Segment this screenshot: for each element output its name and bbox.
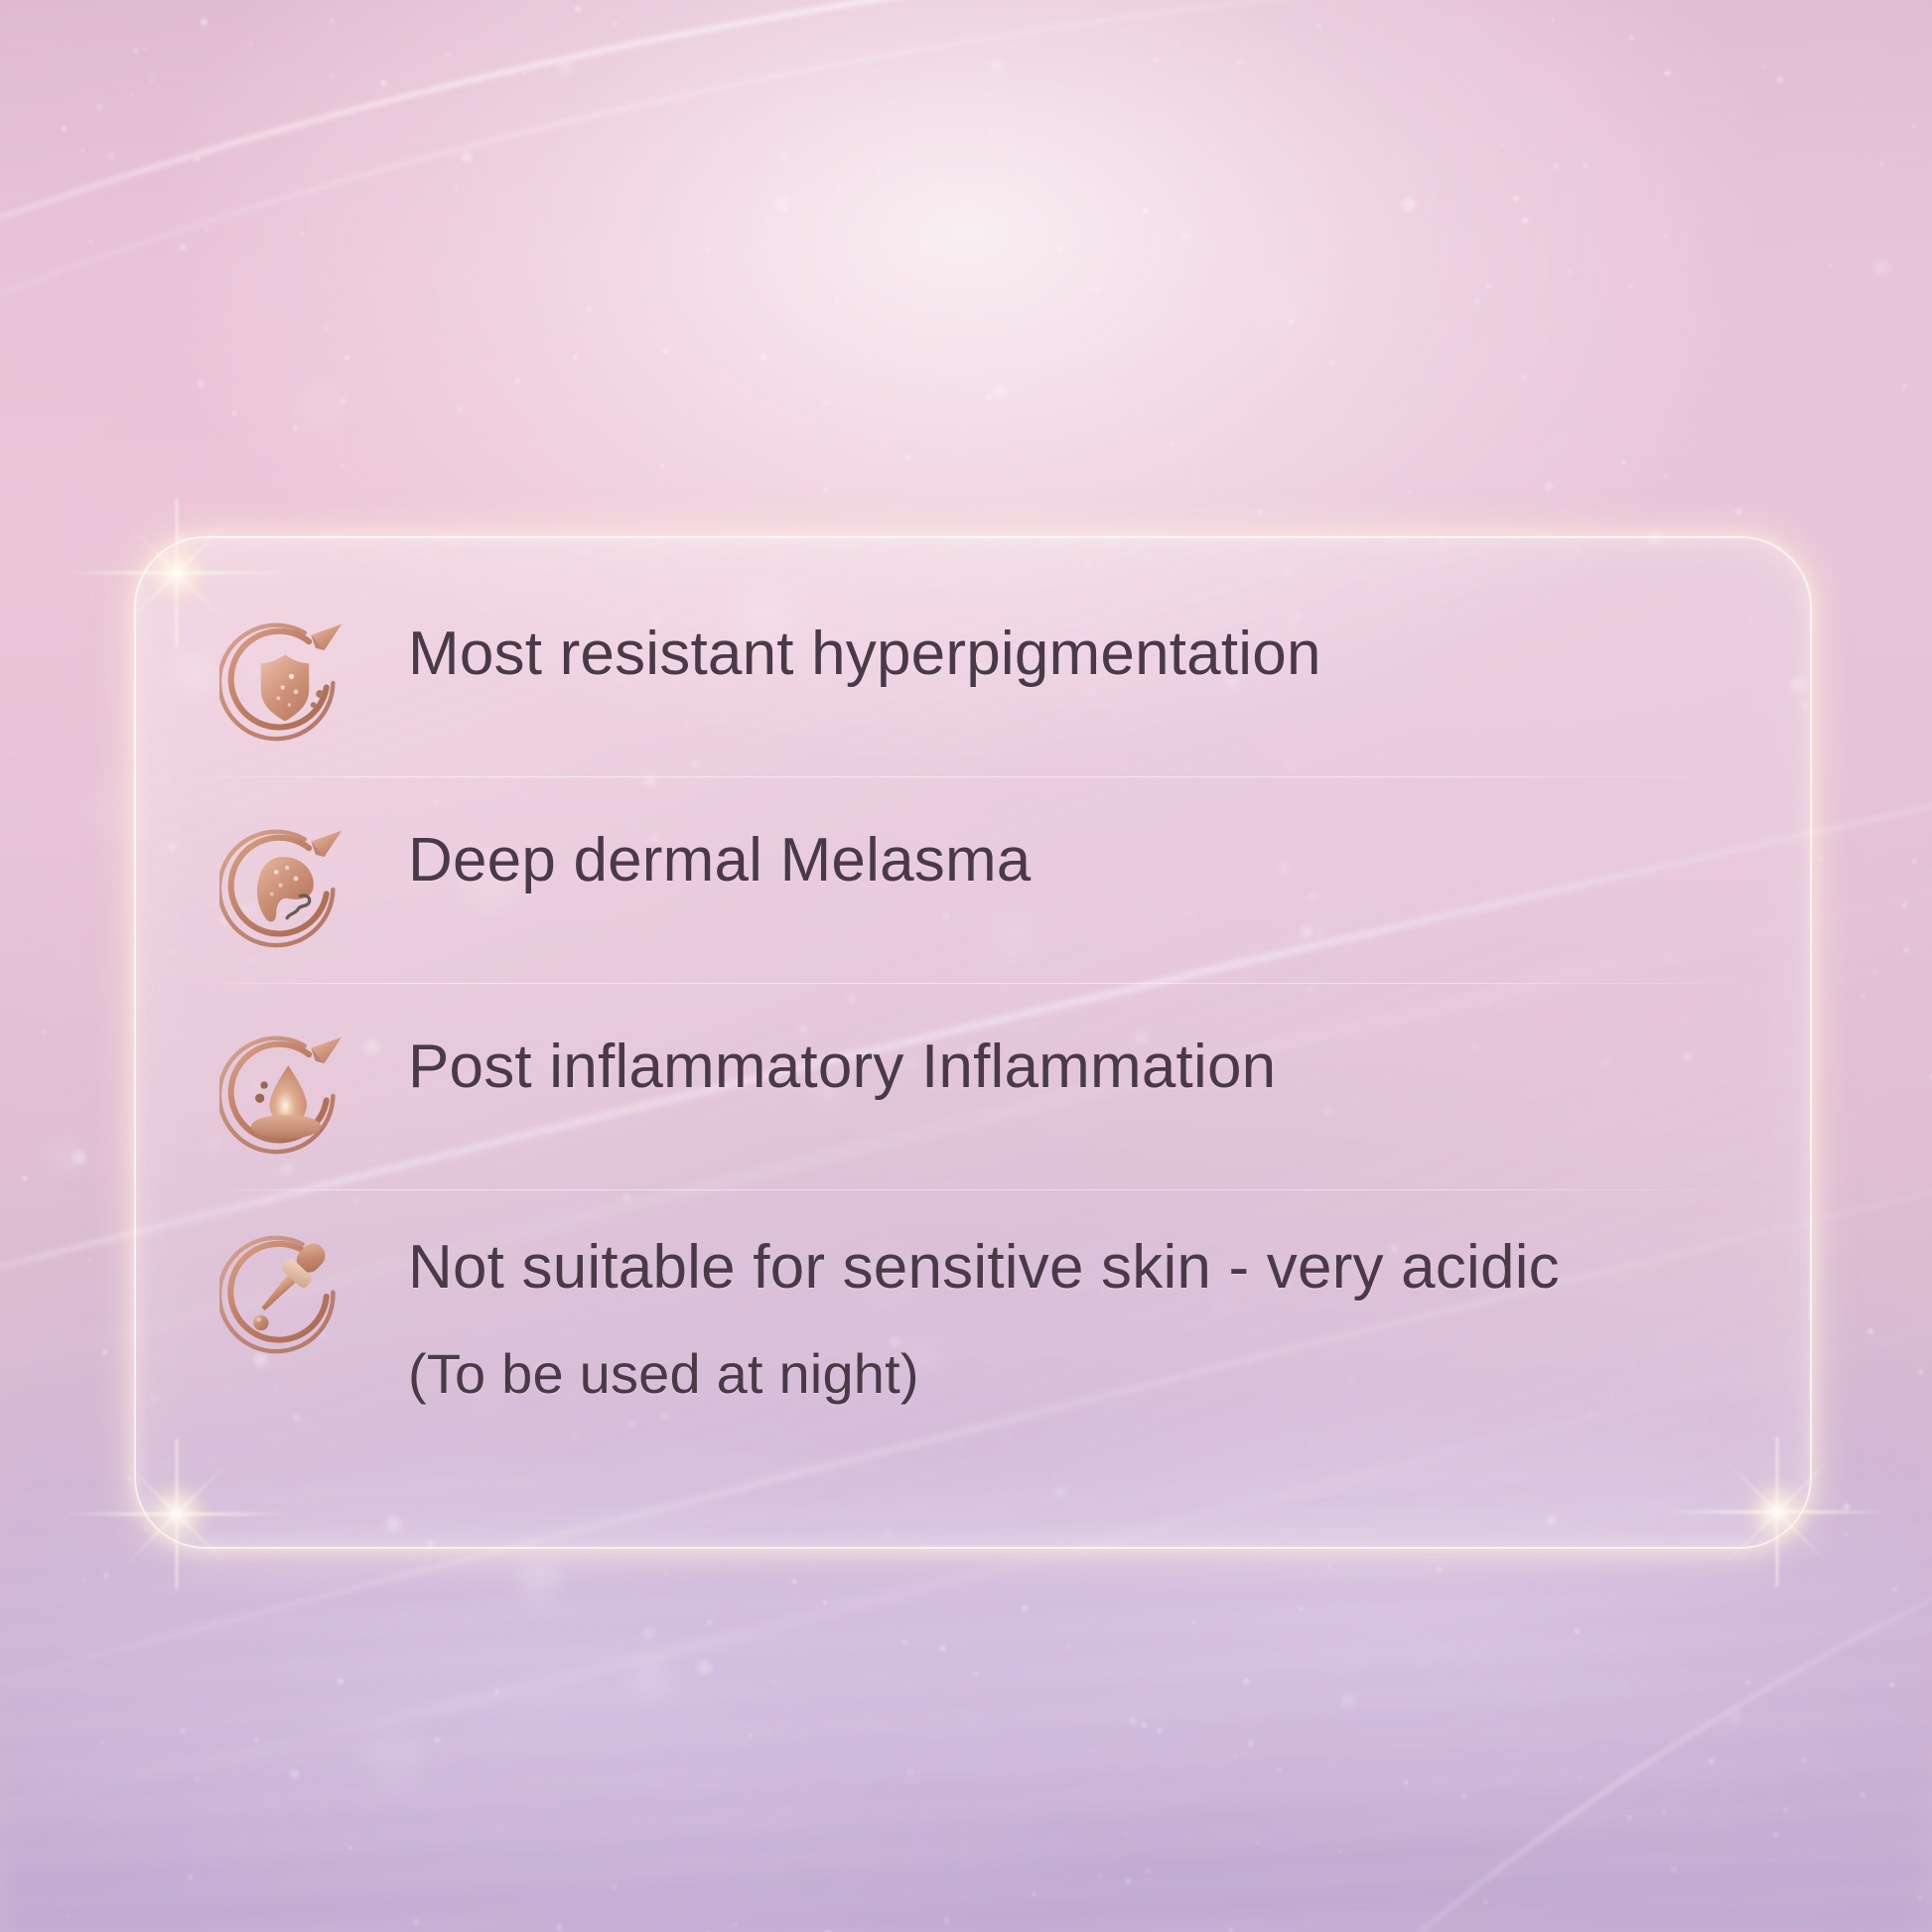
benefit-row: Most resistant hyperpigmentation [134,570,1812,776]
benefit-row: Not suitable for sensitive skin - very a… [134,1189,1812,1487]
benefit-label: Not suitable for sensitive skin - very a… [408,1233,1560,1302]
shield-pigment-icon [219,618,350,749]
benefit-label: Post inflammatory Inflammation [408,1035,1276,1100]
dropper-pipette-icon [219,1231,350,1362]
benefit-row: Post inflammatory Inflammation [134,983,1812,1189]
promo-graphic: Most resistant hyperpigmentation [0,0,1932,1932]
benefits-card: Most resistant hyperpigmentation [134,536,1812,1549]
benefit-label: Deep dermal Melasma [408,828,1032,894]
benefit-sub-label: (To be used at night) [408,1344,1560,1403]
benefit-label: Most resistant hyperpigmentation [408,621,1321,687]
droplet-inflammation-icon [219,1031,350,1162]
benefit-row: Deep dermal Melasma [134,776,1812,983]
benefit-label-group: Not suitable for sensitive skin - very a… [408,1235,1560,1403]
skin-patch-melasma-icon [219,824,350,955]
benefit-rows: Most resistant hyperpigmentation [134,536,1812,1549]
